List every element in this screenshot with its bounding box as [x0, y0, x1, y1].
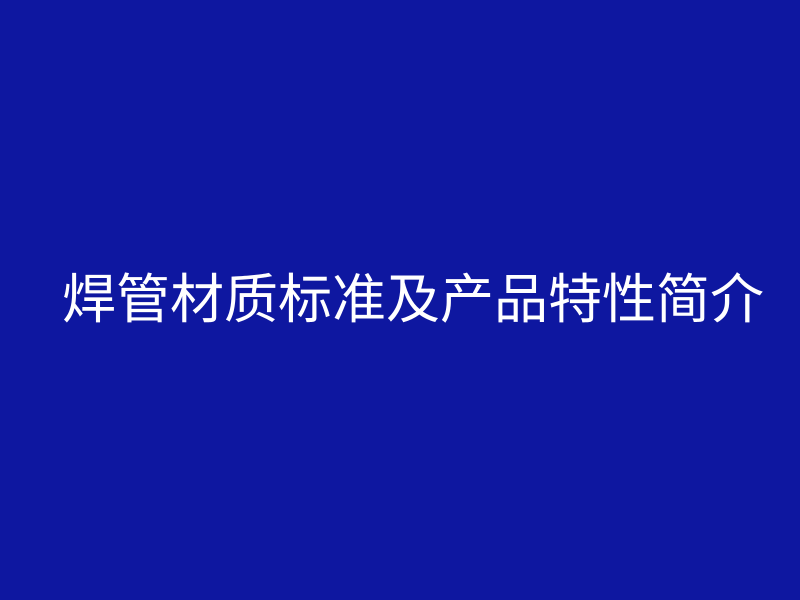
slide-canvas: 焊管材质标准及产品特性简介	[0, 0, 800, 600]
page-title: 焊管材质标准及产品特性简介	[0, 272, 764, 329]
title-block: 焊管材质标准及产品特性简介	[0, 0, 800, 600]
